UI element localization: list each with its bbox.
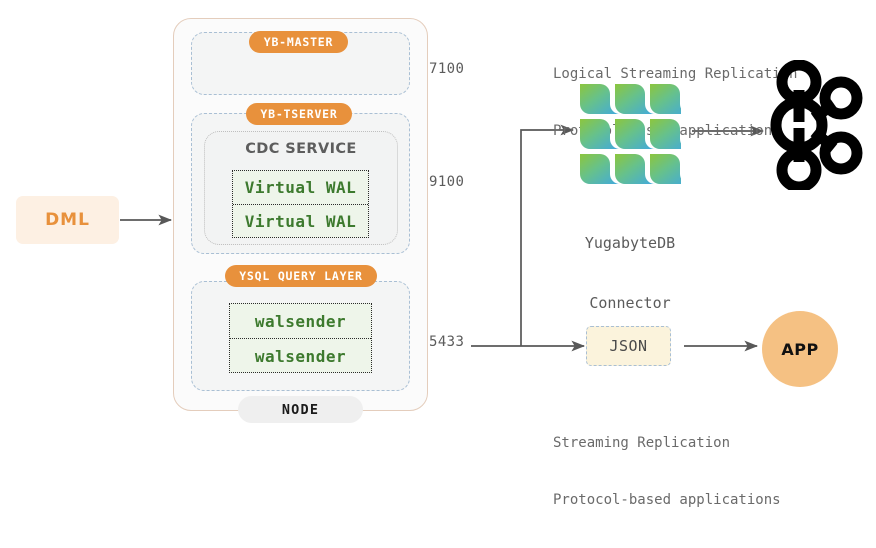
dml-source-box: DML [16,196,119,244]
yb-master-badge: YB-MASTER [249,31,348,53]
walsender-stack: walsender walsender [229,303,372,373]
dml-label: DML [45,210,90,230]
port-label-ysql: 5433 [429,334,464,350]
node-label: NODE [282,402,319,418]
kafka-logo-icon [767,60,863,190]
port-label-tserver: 9100 [429,174,464,190]
virtual-wal-stack: Virtual WAL Virtual WAL [232,170,369,238]
caption-line-2: Protocol-based applications [553,491,781,510]
json-payload-box: JSON [586,326,671,366]
walsender-item: walsender [230,338,371,373]
streaming-replication-caption: Streaming Replication Protocol-based app… [553,396,781,548]
node-label-pill: NODE [238,396,363,423]
caption-line-1: Streaming Replication [553,434,781,453]
connector-name-line-1: YugabyteDB [551,233,709,253]
virtual-wal-item: Virtual WAL [233,171,368,204]
cdc-service-title: CDC SERVICE [204,141,398,157]
app-label: APP [781,340,818,359]
app-consumer-circle: APP [762,311,838,387]
virtual-wal-item: Virtual WAL [233,204,368,238]
ysql-query-layer-badge: YSQL QUERY LAYER [225,265,377,287]
walsender-item: walsender [230,304,371,338]
port-label-master: 7100 [429,61,464,77]
connector-name-line-2: Connector [551,293,709,313]
diagram-canvas: DML YB-MASTER YB-TSERVER YSQL QUERY LAYE… [0,0,876,448]
yugabytedb-logo-icon [578,82,681,185]
json-label: JSON [609,337,647,355]
yb-tserver-badge: YB-TSERVER [246,103,352,125]
